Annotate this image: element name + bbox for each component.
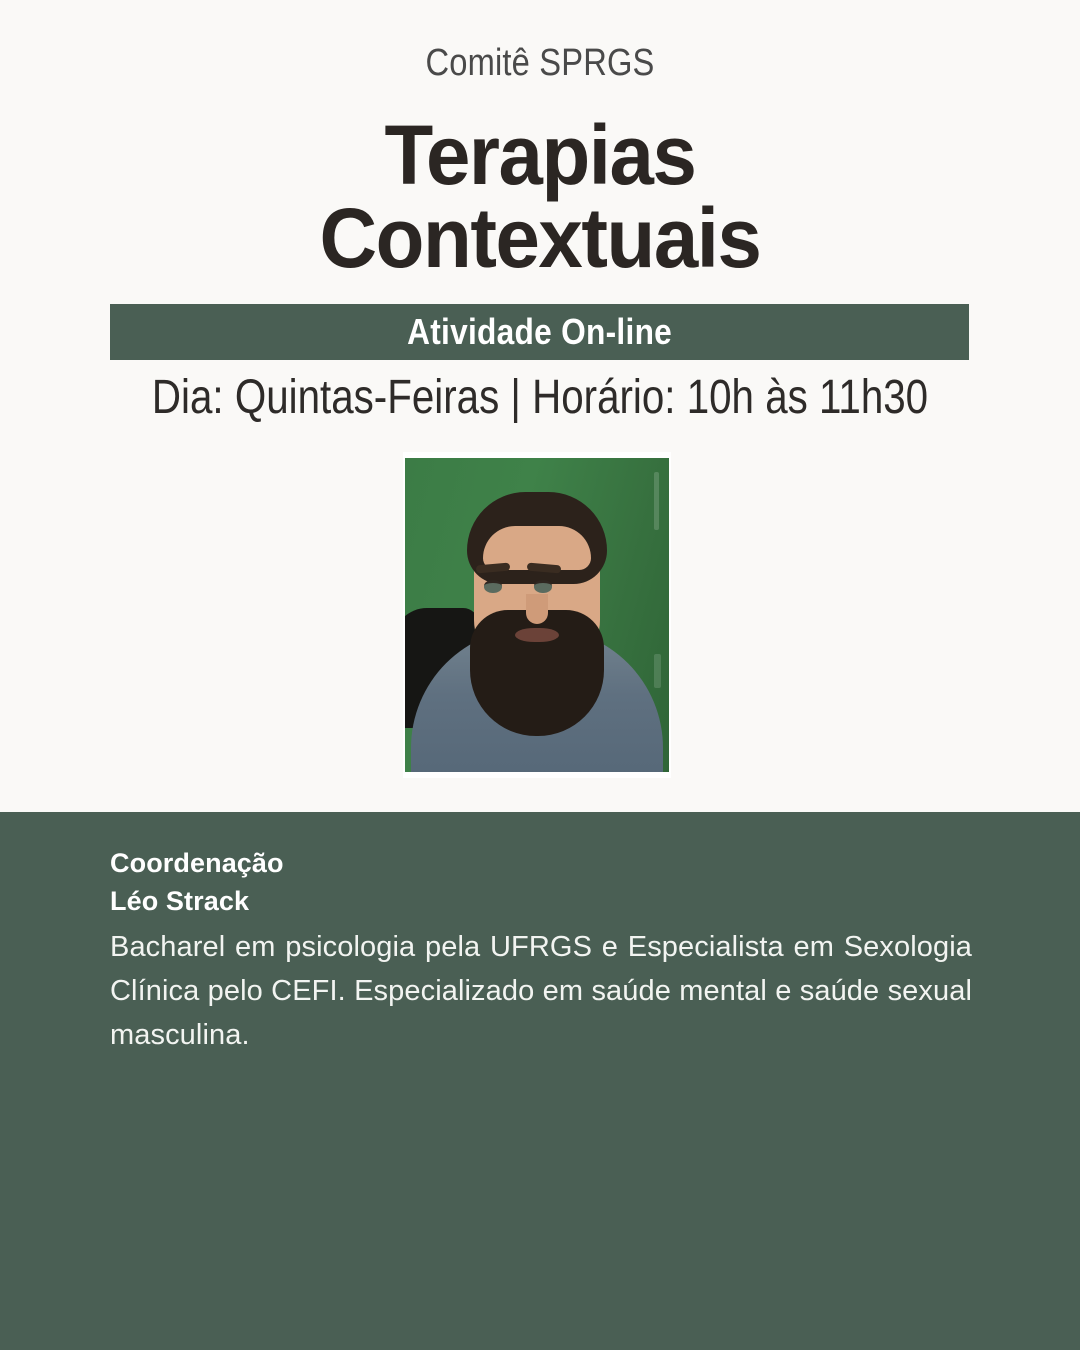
mouth-shape (515, 628, 559, 642)
organization-kicker: Comitê SPRGS (76, 44, 1005, 82)
coordinator-description: Bacharel em psicologia pela UFRGS e Espe… (110, 925, 972, 1057)
title-line-1: Terapias (27, 114, 1053, 197)
speaker-photo-frame (403, 452, 671, 778)
speaker-photo (405, 458, 669, 772)
bottom-section: Coordenação Léo Strack Bacharel em psico… (0, 812, 1080, 1350)
nose-shape (526, 594, 548, 624)
online-activity-banner: Atividade On-line (110, 304, 969, 360)
page-title: Terapias Contextuais (0, 114, 1080, 280)
photo-background-highlight (654, 654, 661, 688)
eye-right-shape (534, 580, 552, 593)
poster-root: Comitê SPRGS Terapias Contextuais Ativid… (0, 0, 1080, 1350)
coordinator-name: Léo Strack (110, 882, 972, 920)
schedule-text: Dia: Quintas-Feiras | Horário: 10h às 11… (152, 372, 928, 425)
coordinator-bio-block: Coordenação Léo Strack Bacharel em psico… (110, 844, 972, 1057)
eye-left-shape (484, 580, 502, 593)
top-section: Comitê SPRGS Terapias Contextuais Ativid… (0, 0, 1080, 812)
coordination-label: Coordenação (110, 844, 972, 882)
online-activity-label: Atividade On-line (407, 314, 672, 350)
title-line-2: Contextuais (27, 197, 1053, 280)
schedule-line: Dia: Quintas-Feiras | Horário: 10h às 11… (0, 372, 1080, 425)
